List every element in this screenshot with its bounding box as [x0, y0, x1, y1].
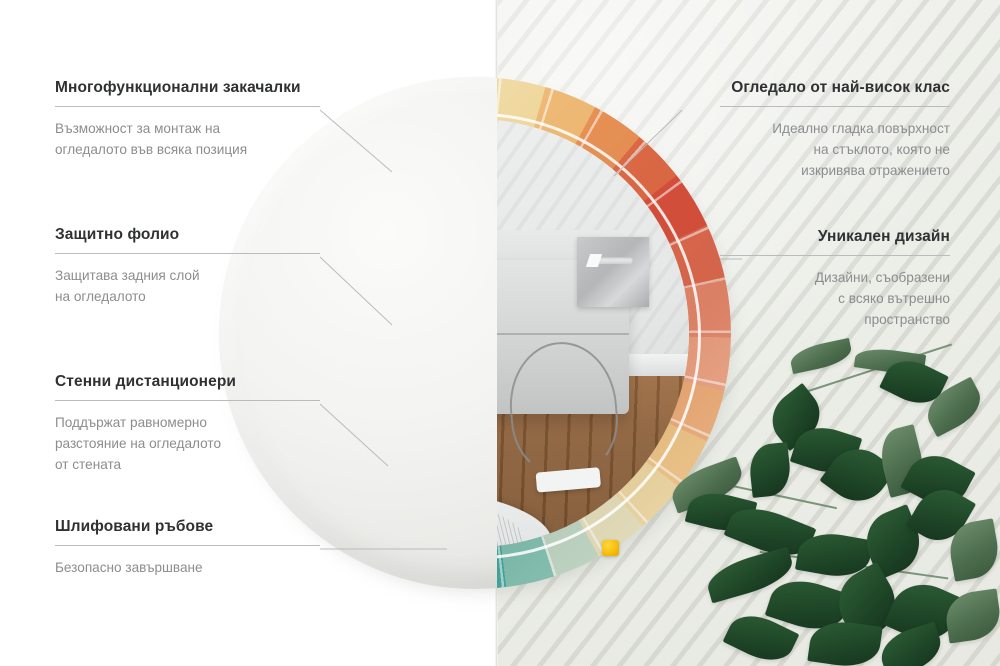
callout-body-line: на огледалото: [55, 289, 146, 304]
callout-body-line: Възможност за монтаж на: [55, 121, 220, 136]
callout-body-line: Идеално гладка повърхност: [772, 121, 950, 136]
callout-title: Огледало от най-висок клас: [720, 79, 950, 97]
callout-title: Защитно фолио: [55, 226, 320, 244]
callout-body-line: огледалото във всяка позиция: [55, 142, 247, 157]
callout-body-line: изкривява отражението: [801, 163, 950, 178]
callout-title: Стенни дистанционери: [55, 373, 320, 391]
callout-title: Шлифовани ръбове: [55, 518, 320, 536]
callout-protective-film: Защитно фолио Защитава задния слой на ог…: [55, 226, 320, 307]
yellow-spacer: [602, 540, 619, 556]
callout-body-line: пространство: [864, 312, 950, 327]
callout-body: Защитава задния слой на огледалото: [55, 265, 320, 307]
callout-body: Възможност за монтаж на огледалото във в…: [55, 118, 320, 160]
hanger-slot: [593, 257, 633, 264]
callout-top-class-mirror: Огледало от най-висок клас Идеално гладк…: [720, 79, 950, 181]
callout-body-line: на стъклото, която не: [814, 142, 951, 157]
callout-body-line: с всяко вътрешно: [838, 291, 950, 306]
hanger-plate: [577, 237, 649, 307]
callout-rule: [55, 106, 320, 107]
callout-title: Многофункционални закачалки: [55, 79, 320, 97]
callout-rule: [55, 253, 320, 254]
callout-body: Поддържат равномерно разстояние на оглед…: [55, 412, 320, 475]
callout-body-line: Безопасно завършване: [55, 560, 203, 575]
callout-rule: [55, 400, 320, 401]
product-infographic: Многофункционални закачалки Възможност з…: [0, 0, 1000, 666]
callout-unique-design: Уникален дизайн Дизайни, съобразени с вс…: [720, 228, 950, 330]
callout-body-line: Защитава задния слой: [55, 268, 200, 283]
callout-body: Идеално гладка повърхност на стъклото, к…: [720, 118, 950, 181]
callout-body-line: Дизайни, съобразени: [815, 270, 950, 285]
callout-multifunctional-hangers: Многофункционални закачалки Възможност з…: [55, 79, 320, 160]
callout-body-line: разстояние на огледалото: [55, 436, 221, 451]
callout-body-line: от стената: [55, 457, 121, 472]
callout-rule: [720, 106, 950, 107]
callout-polished-edges: Шлифовани ръбове Безопасно завършване: [55, 518, 320, 578]
callout-body-line: Поддържат равномерно: [55, 415, 207, 430]
callout-body: Дизайни, съобразени с всяко вътрешно про…: [720, 267, 950, 330]
callout-rule: [55, 545, 320, 546]
callout-title: Уникален дизайн: [720, 228, 950, 246]
callout-wall-spacers: Стенни дистанционери Поддържат равномерн…: [55, 373, 320, 475]
callout-rule: [720, 255, 950, 256]
callout-body: Безопасно завършване: [55, 557, 320, 578]
